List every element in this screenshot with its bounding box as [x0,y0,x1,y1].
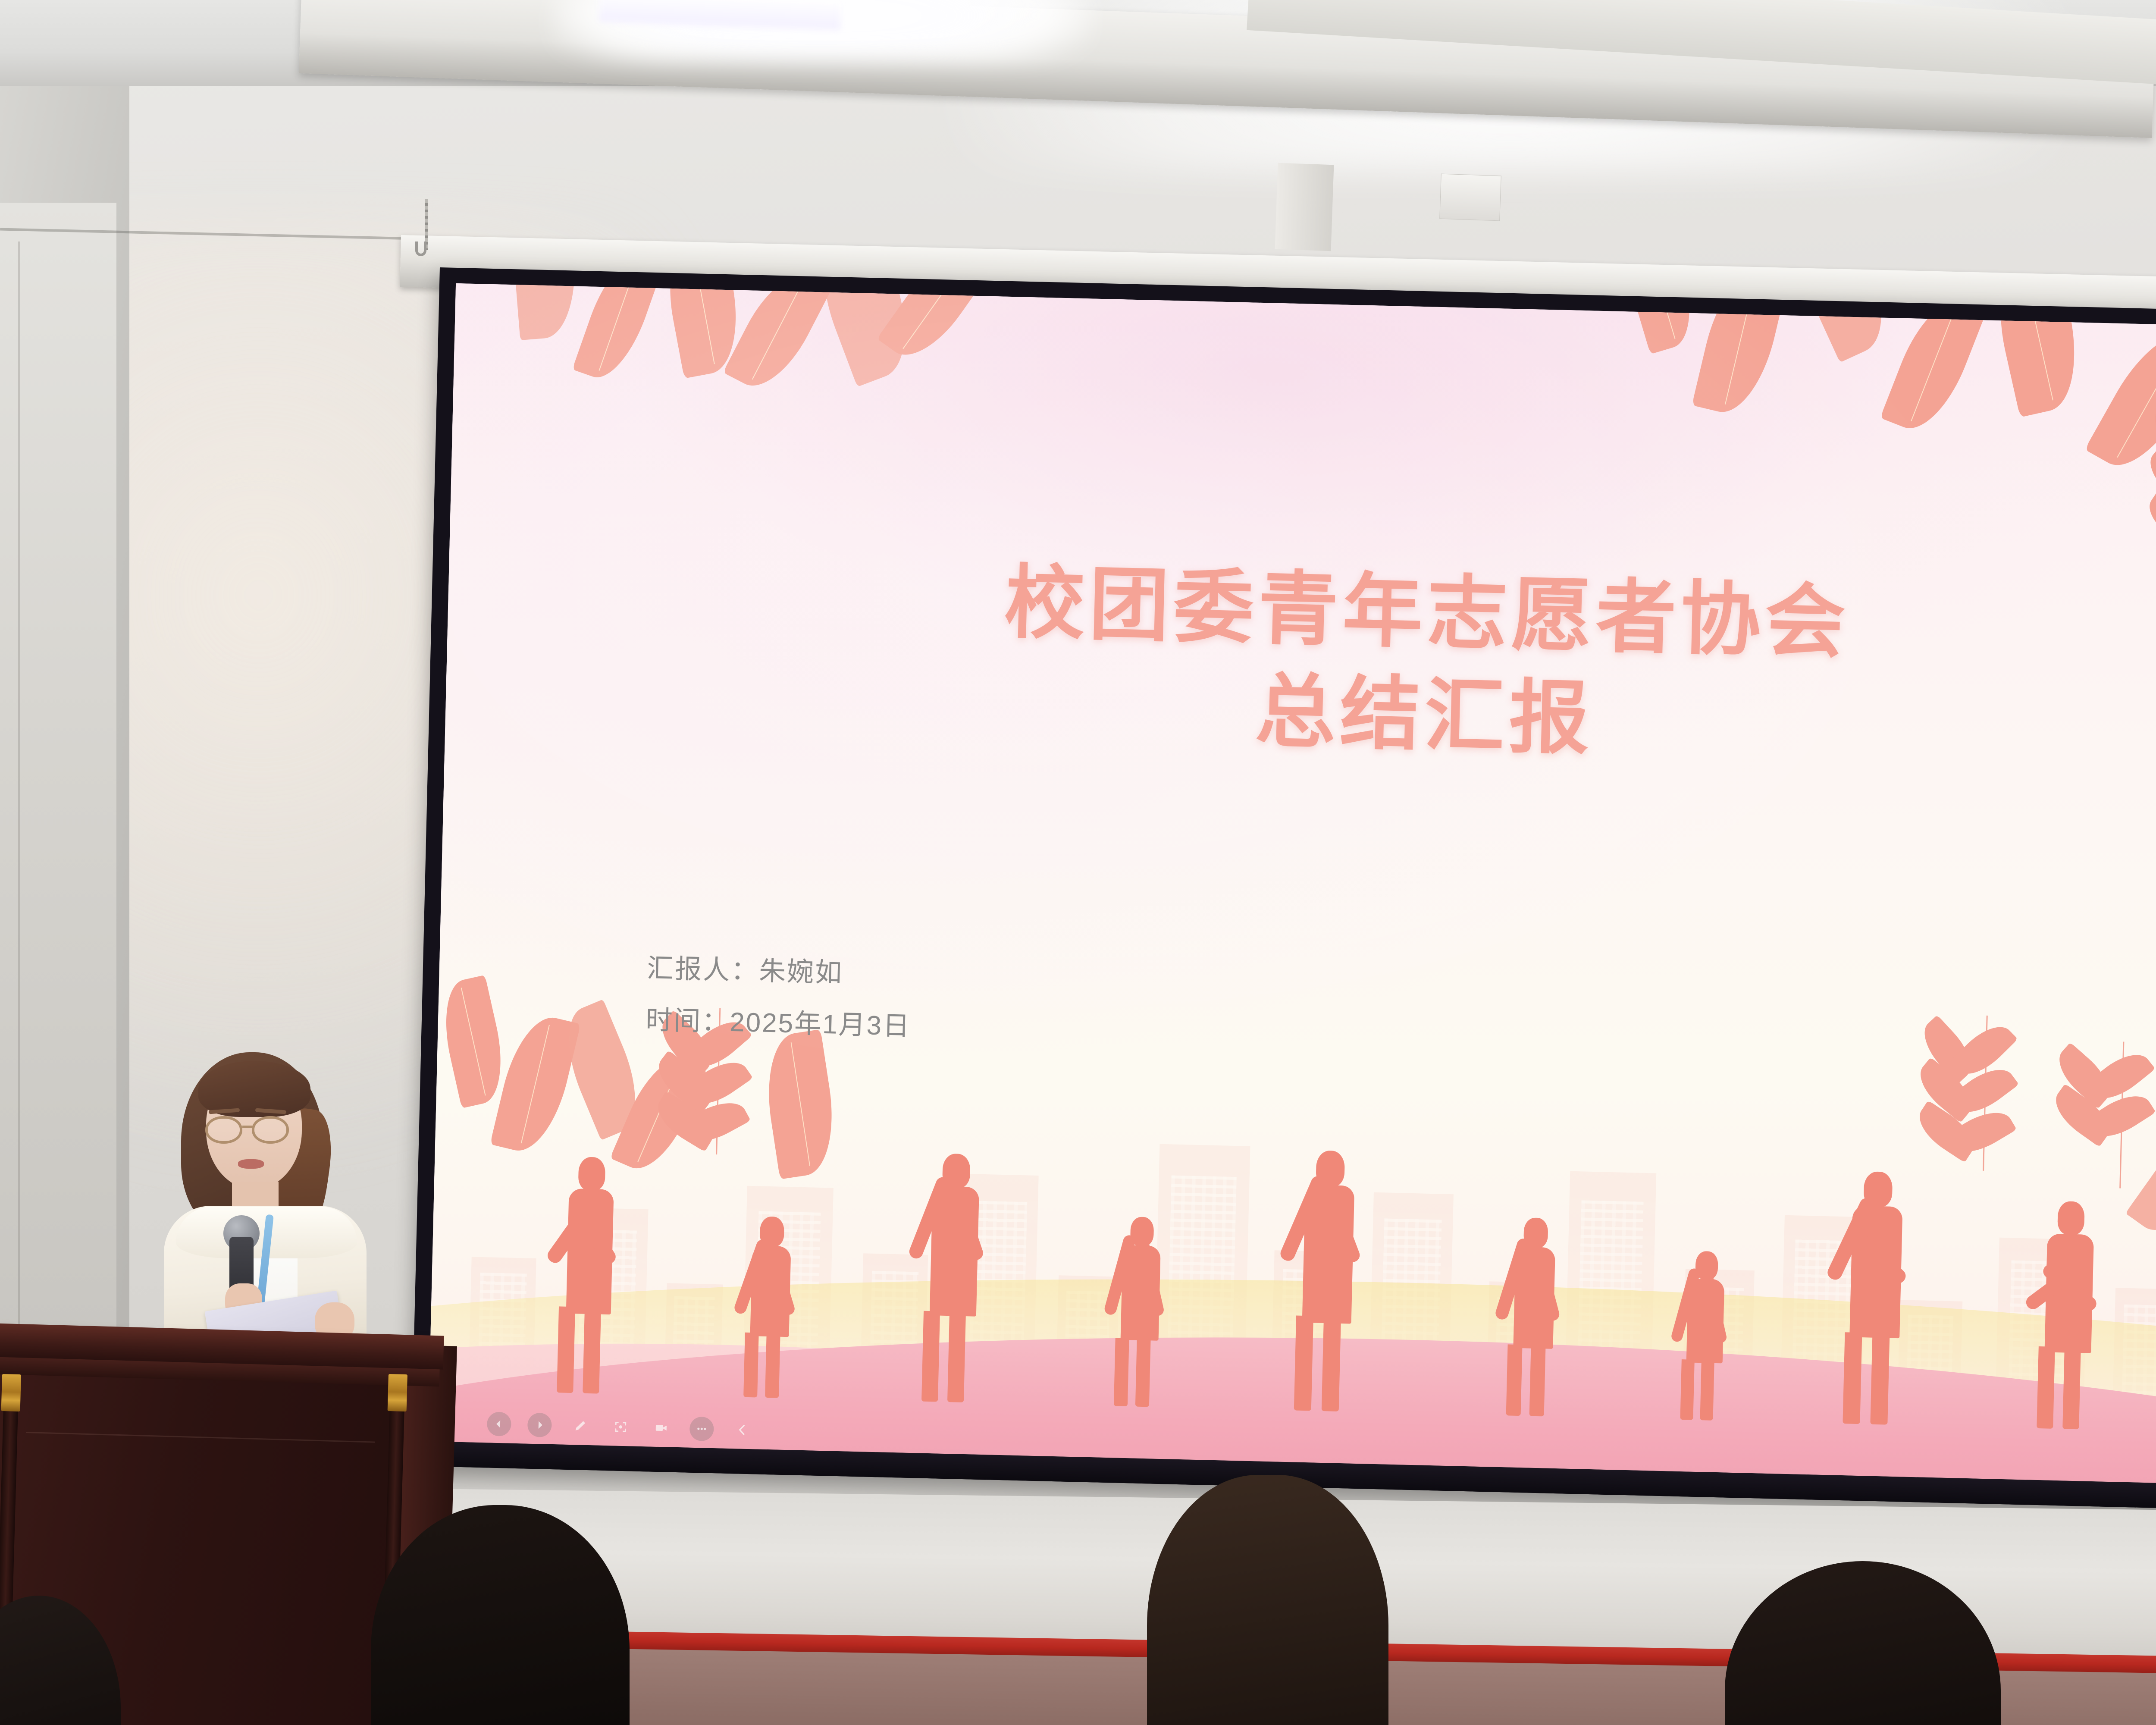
pen-icon [573,1419,587,1433]
next-slide-button[interactable] [527,1413,552,1437]
ceiling-fixture-box [1275,163,1334,251]
laser-pointer-button[interactable] [608,1414,633,1439]
ceiling-vent-icon [1439,174,1501,221]
focus-target-icon [614,1421,627,1434]
slide-title: 校团委青年志愿者协会 总结汇报 [445,538,2156,790]
presentation-slide[interactable]: 校团委青年志愿者协会 总结汇报 汇报人：朱婉如 时间：2025年1月3日 [428,283,2156,1489]
screen-hook-icon-left [415,241,426,256]
collapse-toolbar-button[interactable] [730,1418,755,1442]
person-silhouette [2015,1195,2124,1430]
podium-brass-cap-right [388,1374,407,1411]
ellipsis-icon [695,1422,708,1436]
podium-brass-cap-left [1,1374,21,1411]
chevron-left-icon [736,1423,749,1436]
slide-metadata: 汇报人：朱婉如 时间：2025年1月3日 [645,943,913,1054]
presentation-date-label: 时间：2025年1月3日 [645,994,912,1053]
projection-screen[interactable]: 校团委青年志愿者协会 总结汇报 汇报人：朱婉如 时间：2025年1月3日 [411,267,2156,1514]
person-silhouette [537,1151,642,1394]
wall-corner-seam [18,241,20,1514]
pen-annotation-button[interactable] [568,1414,592,1438]
person-silhouette [1271,1142,1385,1412]
screen-record-button[interactable] [649,1415,674,1440]
screen-surface[interactable]: 校团委青年志愿者协会 总结汇报 汇报人：朱婉如 时间：2025年1月3日 [428,283,2156,1489]
presenter-mouth [238,1159,264,1169]
presenter-name-label: 汇报人：朱婉如 [646,943,913,1001]
slide-title-line-1: 校团委青年志愿者协会 [1003,558,1850,668]
glasses-icon-right [252,1116,289,1144]
lecture-hall-scene: 校团委青年志愿者协会 总结汇报 汇报人：朱婉如 时间：2025年1月3日 [0,0,2156,1725]
people-holding-hands-illustration [429,1113,2156,1436]
video-camera-icon [655,1421,668,1435]
previous-slide-button[interactable] [487,1411,511,1436]
glasses-bridge [242,1126,253,1128]
person-silhouette [899,1147,1009,1404]
person-silhouette [1486,1212,1581,1417]
person-silhouette [723,1211,818,1399]
chevron-left-circle-icon [492,1418,506,1431]
person-silhouette [1662,1247,1749,1421]
glasses-icon-left [205,1116,242,1144]
slide-title-line-2: 总结汇报 [445,641,2156,790]
person-silhouette [1819,1164,1933,1426]
person-silhouette [1094,1211,1185,1408]
presenter-fringe [198,1061,310,1117]
more-options-button[interactable] [689,1417,714,1441]
chevron-right-circle-icon [533,1418,546,1432]
presenter-person [129,1044,397,1345]
